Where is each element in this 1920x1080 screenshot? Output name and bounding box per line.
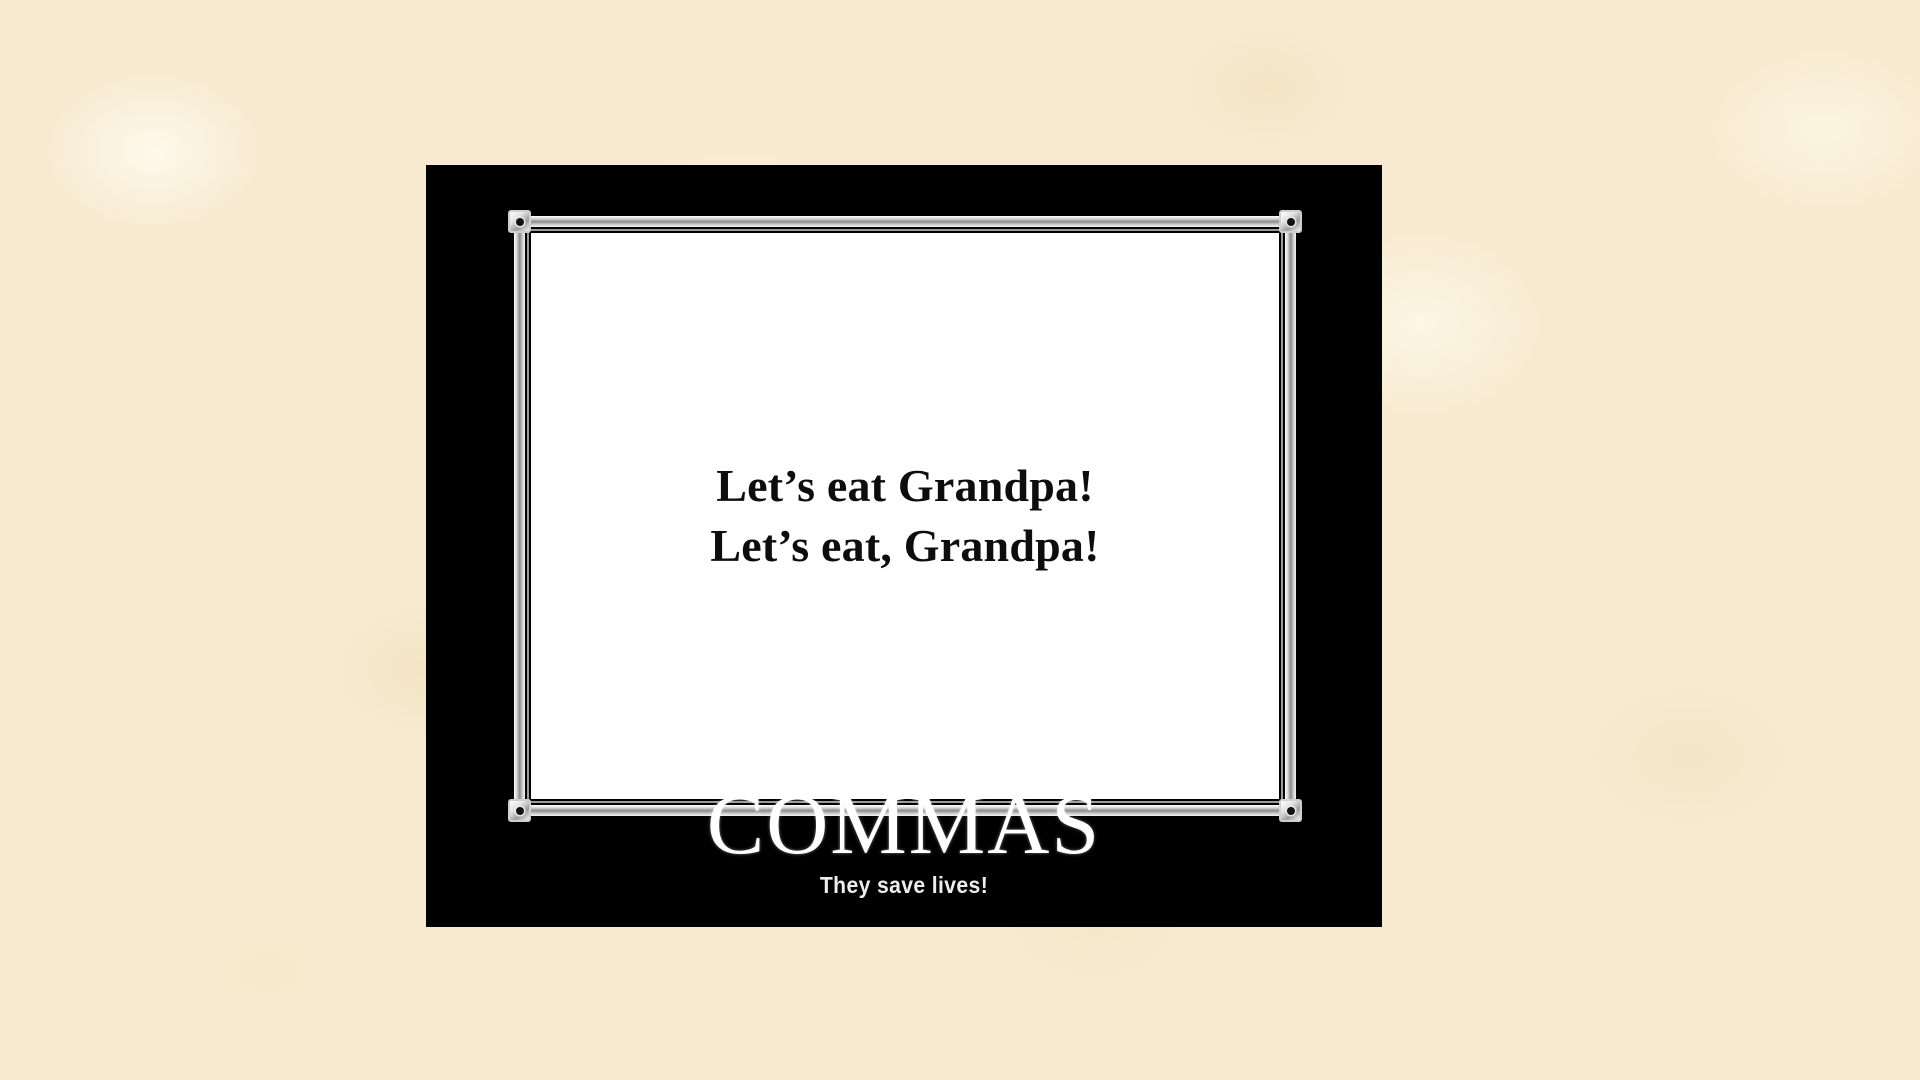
- caption-title: COMMAS: [426, 784, 1382, 866]
- frame-hairline-top: [525, 229, 1285, 231]
- demotivational-poster: Let’s eat Grandpa! Let’s eat, Grandpa! C…: [426, 165, 1382, 927]
- frame-rail-left: [514, 216, 525, 816]
- frame-rail-right: [1285, 216, 1296, 816]
- caption-block: COMMAS They save lives!: [426, 784, 1382, 899]
- frame-corner-ornament-top-left: [508, 210, 531, 233]
- frame-hairline-right: [1281, 227, 1283, 805]
- frame-corner-ornament-bottom-right: [1279, 799, 1302, 822]
- photo-canvas: Let’s eat Grandpa! Let’s eat, Grandpa!: [531, 233, 1279, 799]
- joke-line-with-comma: Let’s eat, Grandpa!: [531, 516, 1279, 576]
- frame-hairline-left: [527, 227, 529, 805]
- frame-corner-ornament-top-right: [1279, 210, 1302, 233]
- frame-corner-ornament-bottom-left: [508, 799, 531, 822]
- picture-frame: Let’s eat Grandpa! Let’s eat, Grandpa!: [514, 216, 1296, 816]
- caption-subtitle: They save lives!: [464, 872, 1344, 899]
- frame-rail-top: [514, 216, 1296, 227]
- joke-line-without-comma: Let’s eat Grandpa!: [531, 456, 1279, 516]
- joke-text-block: Let’s eat Grandpa! Let’s eat, Grandpa!: [531, 456, 1279, 576]
